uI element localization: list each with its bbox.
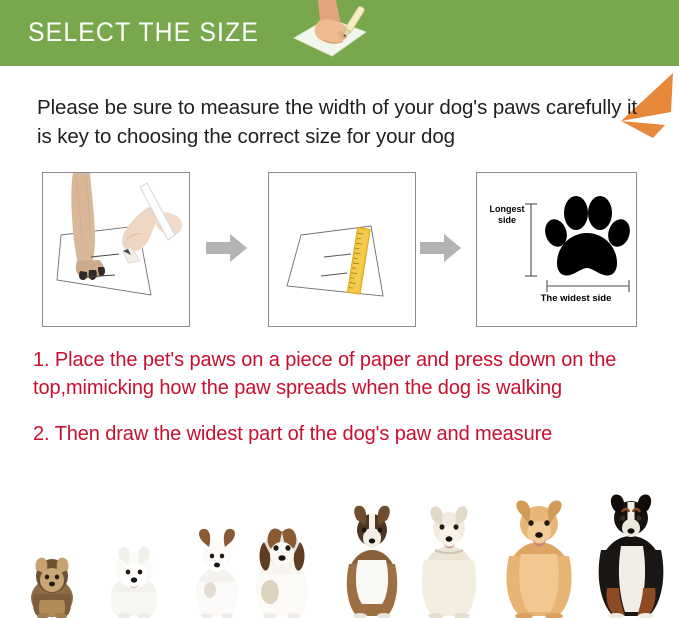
widest-side-label: The widest side	[517, 293, 635, 304]
longest-side-label: Longest side	[484, 204, 530, 226]
step-arrow-right-icon	[206, 232, 248, 264]
dog-photo-golden-retriever	[490, 494, 588, 618]
page-title: SELECT THE SIZE	[28, 17, 259, 48]
dog-size-strip	[0, 486, 679, 618]
measuring-diagram: Longest side The widest side	[42, 172, 637, 327]
dog-photo-west-highland-white-terrier	[98, 532, 170, 618]
ruler-measuring-illustration	[269, 173, 415, 326]
paw-tracing-illustration	[43, 173, 189, 326]
intro-paragraph: Please be sure to measure the width of y…	[37, 93, 649, 151]
dog-photo-border-collie	[330, 500, 414, 618]
instruction-step-2: 2. Then draw the widest part of the dog'…	[33, 420, 663, 448]
instruction-step-1: 1. Place the pet's paws on a piece of pa…	[33, 346, 663, 402]
longest-side-label-line1: Longest	[490, 204, 525, 214]
header-band: SELECT THE SIZE	[0, 0, 679, 66]
longest-side-label-line2: side	[498, 215, 516, 225]
dog-photo-bernese-mountain-dog	[585, 488, 677, 618]
diagram-box-measure-with-ruler	[268, 172, 416, 327]
dog-photo-beagle	[240, 512, 324, 618]
step-arrow-right-icon	[420, 232, 462, 264]
hand-drawing-on-paper-icon	[288, 0, 396, 66]
diagram-box-paw-measurements: Longest side The widest side	[476, 172, 637, 327]
instruction-steps: 1. Place the pet's paws on a piece of pa…	[33, 346, 663, 448]
diagram-box-trace-paw	[42, 172, 190, 327]
dog-photo-labrador-retriever	[405, 498, 493, 618]
dog-photo-yorkshire-terrier	[18, 536, 86, 618]
